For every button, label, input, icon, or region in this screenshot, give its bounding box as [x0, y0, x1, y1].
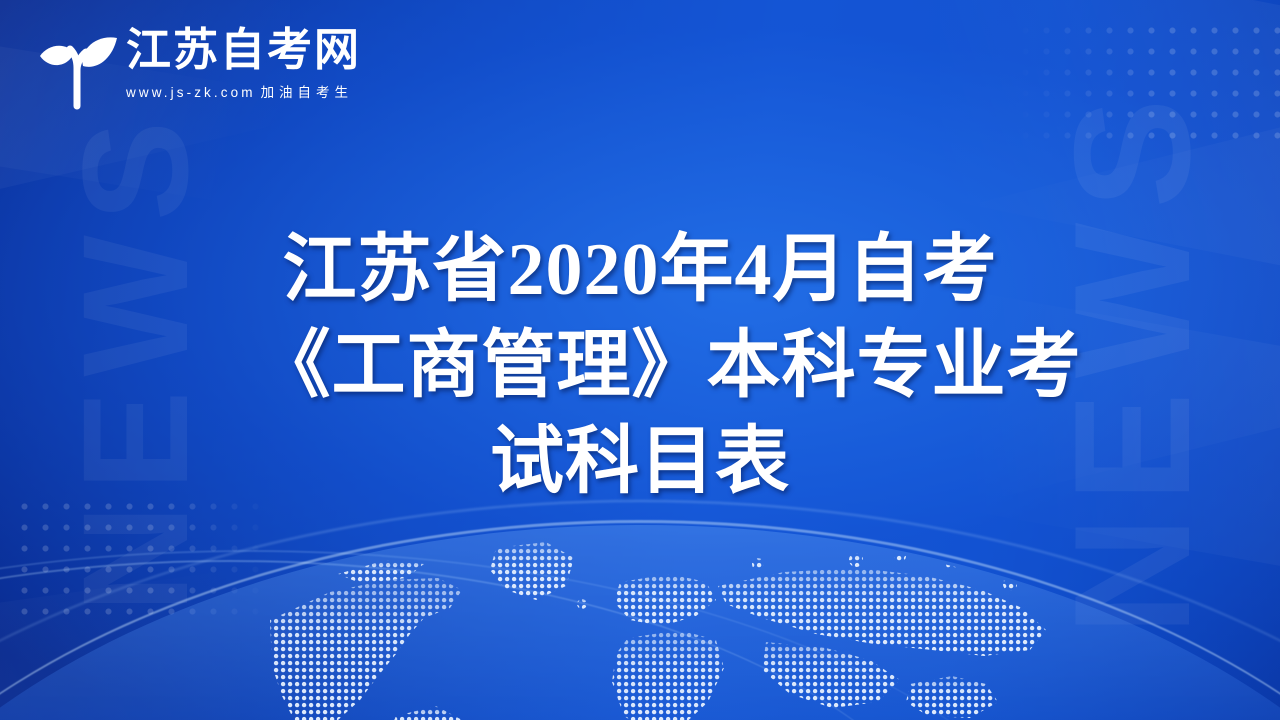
title-line-2: 《工商管理》本科专业考: [150, 318, 1130, 414]
sprout-leaf-icon: [34, 26, 120, 110]
decor-arc-outer: [0, 560, 980, 720]
globe-sphere: [0, 525, 1280, 720]
title-line-3: 试科目表: [150, 414, 1130, 510]
dot-grid-top-right: [1015, 20, 1280, 145]
logo-sub-line: www.js-zk.com加油自考生: [126, 81, 361, 101]
globe-outer-rim: [0, 500, 1280, 720]
globe-map-clip: [0, 528, 1280, 720]
globe-rim: [0, 520, 1280, 720]
logo-website: www.js-zk.com: [126, 85, 256, 100]
page-title: 江苏省2020年4月自考 《工商管理》本科专业考 试科目表: [0, 222, 1280, 511]
dot-grid-bottom-left: [14, 496, 274, 626]
logo-brand-name: 江苏自考网: [126, 24, 361, 76]
globe-graphic: [0, 490, 1280, 720]
title-line-1: 江苏省2020年4月自考: [150, 222, 1130, 318]
dotted-world-map-icon: [210, 534, 1070, 720]
decor-arc-inner: [0, 550, 1100, 720]
logo-slogan: 加油自考生: [261, 85, 354, 100]
decor-band-bottom-left: [0, 569, 240, 720]
banner-canvas: NEWS NEWS: [0, 0, 1280, 720]
site-logo[interactable]: 江苏自考网 www.js-zk.com加油自考生: [34, 22, 361, 110]
logo-text-block: 江苏自考网 www.js-zk.com加油自考生: [126, 22, 361, 101]
